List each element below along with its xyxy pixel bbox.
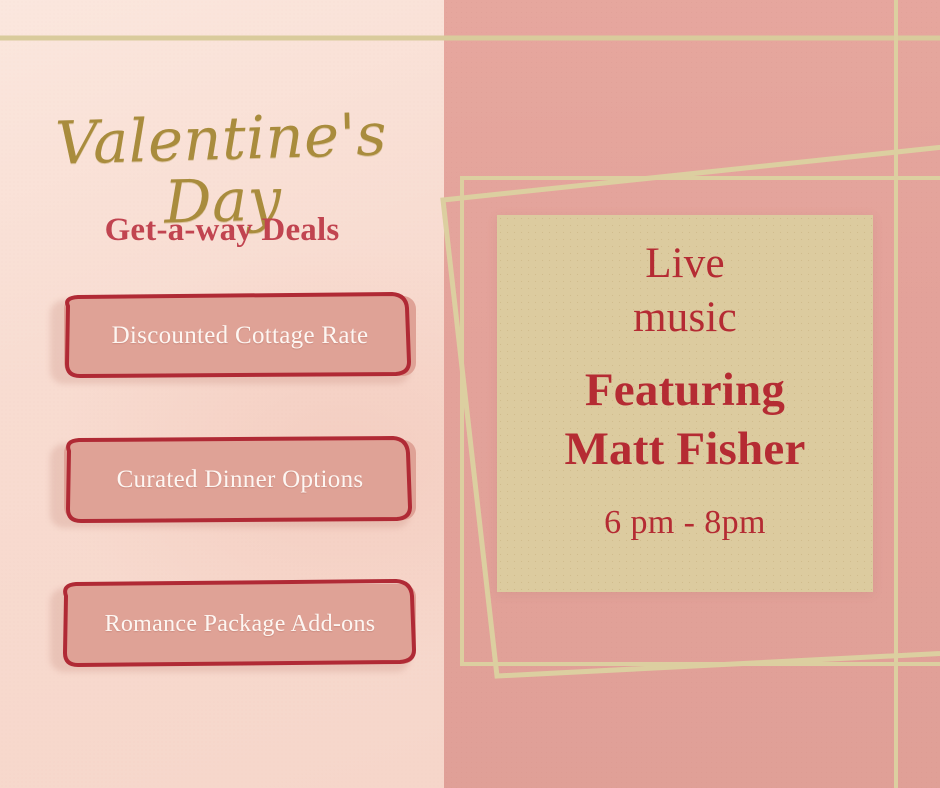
live-music-line-1: Live (633, 237, 737, 291)
deal-item-romance-package-add-ons[interactable]: Romance Package Add-ons (56, 580, 416, 666)
deal-label: Romance Package Add-ons (64, 584, 416, 664)
deal-item-discounted-cottage-rate[interactable]: Discounted Cottage Rate (56, 292, 416, 378)
page-subtitle: Get-a-way Deals (0, 212, 444, 249)
featuring-label: Featuring (564, 361, 805, 419)
valentines-day-promo-poster: Valentine's Day Get-a-way Deals Discount… (0, 0, 940, 788)
live-music-line-2: music (633, 291, 737, 345)
live-music-card: Live music Featuring Matt Fisher 6 pm - … (497, 215, 873, 592)
deal-item-curated-dinner-options[interactable]: Curated Dinner Options (56, 436, 416, 522)
featured-artist-name: Matt Fisher (564, 420, 805, 478)
deal-label: Discounted Cottage Rate (64, 296, 416, 376)
featuring-block: Featuring Matt Fisher (564, 361, 805, 478)
deal-list: Discounted Cottage Rate Curated Dinner O… (0, 292, 444, 666)
deal-label: Curated Dinner Options (64, 440, 416, 520)
left-content: Valentine's Day Get-a-way Deals Discount… (0, 0, 444, 788)
live-music-heading: Live music (633, 237, 737, 345)
event-time: 6 pm - 8pm (604, 504, 766, 542)
